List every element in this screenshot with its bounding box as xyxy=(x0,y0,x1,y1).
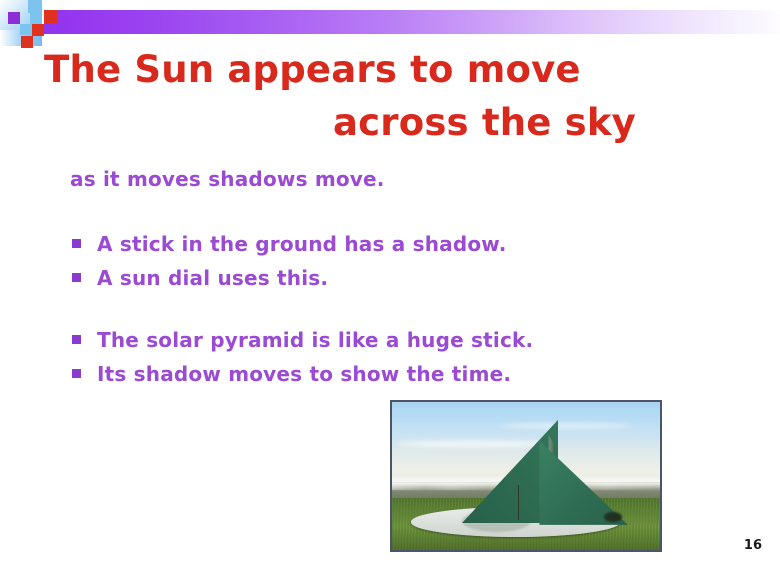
photo-pole xyxy=(518,485,519,521)
list-item: The solar pyramid is like a huge stick. xyxy=(72,326,533,355)
bullet-text: The solar pyramid is like a huge stick. xyxy=(97,326,533,355)
decoration-square-red-2 xyxy=(32,24,44,36)
bullet-text: A stick in the ground has a shadow. xyxy=(97,230,507,259)
bullet-group-1: A stick in the ground has a shadow. A su… xyxy=(72,230,507,298)
decoration-gradient-bar xyxy=(44,10,780,34)
bullet-square-icon xyxy=(72,273,81,282)
bullet-square-icon xyxy=(72,335,81,344)
photo-dark-marker xyxy=(604,512,623,522)
bullet-square-icon xyxy=(72,369,81,378)
slide: The Sun appears to move across the sky a… xyxy=(0,0,780,565)
list-item: A sun dial uses this. xyxy=(72,264,507,293)
bullet-text: Its shadow moves to show the time. xyxy=(97,360,511,389)
photo-canvas xyxy=(392,402,660,550)
decoration-square-red-3 xyxy=(21,36,33,48)
bullet-text: A sun dial uses this. xyxy=(97,264,328,293)
page-number: 16 xyxy=(744,538,762,553)
decoration-square-red-1 xyxy=(44,10,57,23)
decoration-square-blue-2 xyxy=(20,24,32,35)
solar-pyramid-photo xyxy=(390,400,662,552)
photo-cloud-2 xyxy=(499,423,633,429)
bullet-square-icon xyxy=(72,239,81,248)
lead-paragraph: as it moves shadows move. xyxy=(70,167,385,191)
list-item: Its shadow moves to show the time. xyxy=(72,360,533,389)
slide-title-line-1: The Sun appears to move xyxy=(40,44,740,97)
slide-header-decoration xyxy=(0,0,780,50)
slide-title-line-2: across the sky xyxy=(40,97,740,150)
bullet-group-2: The solar pyramid is like a huge stick. … xyxy=(72,326,533,394)
photo-cloud-1 xyxy=(397,440,547,447)
slide-title: The Sun appears to move across the sky xyxy=(40,44,740,149)
decoration-square-blue-3 xyxy=(30,12,42,24)
list-item: A stick in the ground has a shadow. xyxy=(72,230,507,259)
decoration-square-purple-1 xyxy=(8,12,20,24)
